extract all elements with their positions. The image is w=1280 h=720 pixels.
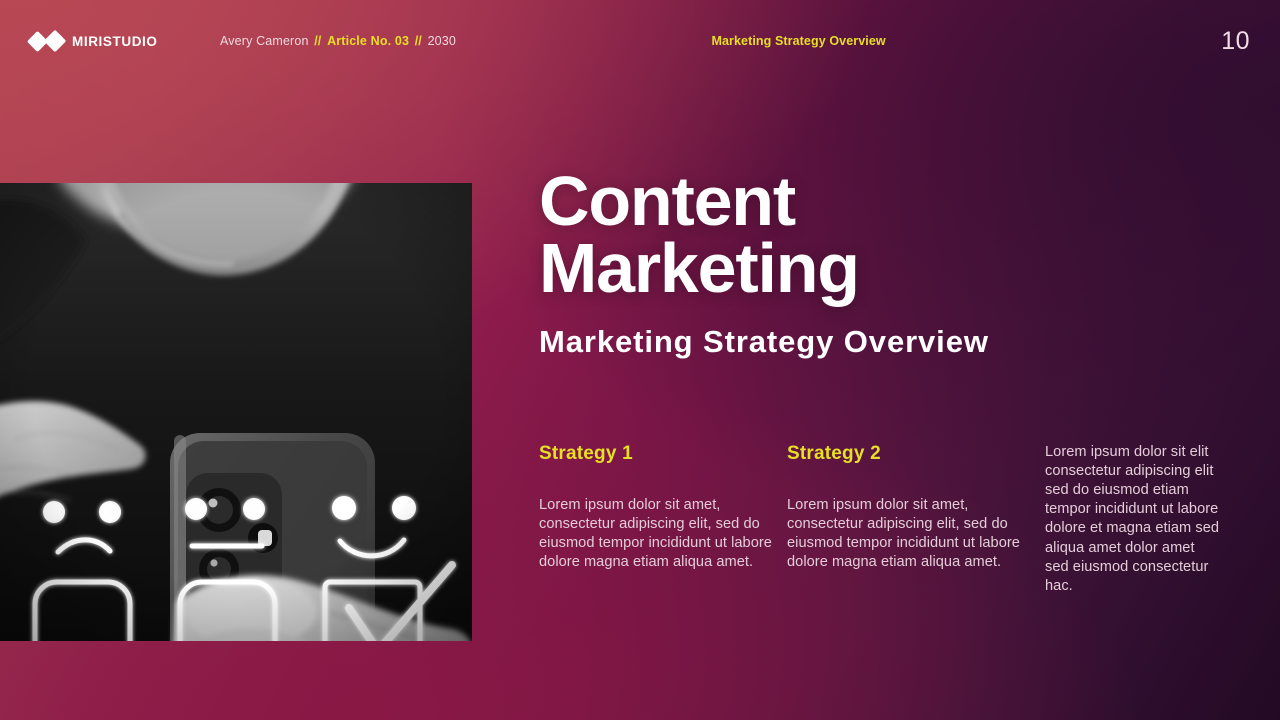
strategy-1-body: Lorem ipsum dolor sit amet, consectetur …: [539, 496, 787, 572]
strategy-2-heading: Strategy 2: [787, 443, 1035, 465]
brand-name: MIRISTUDIO: [72, 34, 158, 49]
main-content: Content Marketing Marketing Strategy Ove…: [539, 168, 1240, 360]
photo-artwork: [0, 183, 472, 641]
page-number: 10: [1221, 27, 1250, 56]
byline-author: Avery Cameron: [220, 34, 309, 48]
byline-separator-2: //: [413, 34, 424, 48]
byline-year: 2030: [428, 34, 456, 48]
slide-header: MIRISTUDIO Avery Cameron // Article No. …: [0, 0, 1280, 82]
title-line-1: Content: [539, 168, 1240, 235]
title-line-2: Marketing: [539, 235, 1240, 302]
strategy-column-2: Strategy 2 Lorem ipsum dolor sit amet, c…: [787, 443, 1035, 572]
double-diamond-icon: [30, 33, 63, 49]
brand-logo[interactable]: MIRISTUDIO: [30, 33, 190, 49]
feature-photo: [0, 183, 472, 641]
strategy-3-body: Lorem ipsum dolor sit elit consectetur a…: [1045, 443, 1220, 596]
byline-separator-1: //: [312, 34, 323, 48]
strategy-1-heading: Strategy 1: [539, 443, 787, 465]
header-center-title: Marketing Strategy Overview: [456, 34, 1221, 48]
slide-canvas: MIRISTUDIO Avery Cameron // Article No. …: [0, 0, 1280, 720]
page-title: Content Marketing: [539, 168, 1240, 302]
byline: Avery Cameron // Article No. 03 // 2030: [220, 34, 456, 48]
byline-article: Article No. 03: [327, 34, 409, 48]
strategy-column-3: Lorem ipsum dolor sit elit consectetur a…: [1045, 443, 1220, 596]
strategy-column-1: Strategy 1 Lorem ipsum dolor sit amet, c…: [539, 443, 787, 572]
page-subtitle: Marketing Strategy Overview: [539, 324, 1240, 360]
strategy-2-body: Lorem ipsum dolor sit amet, consectetur …: [787, 496, 1035, 572]
